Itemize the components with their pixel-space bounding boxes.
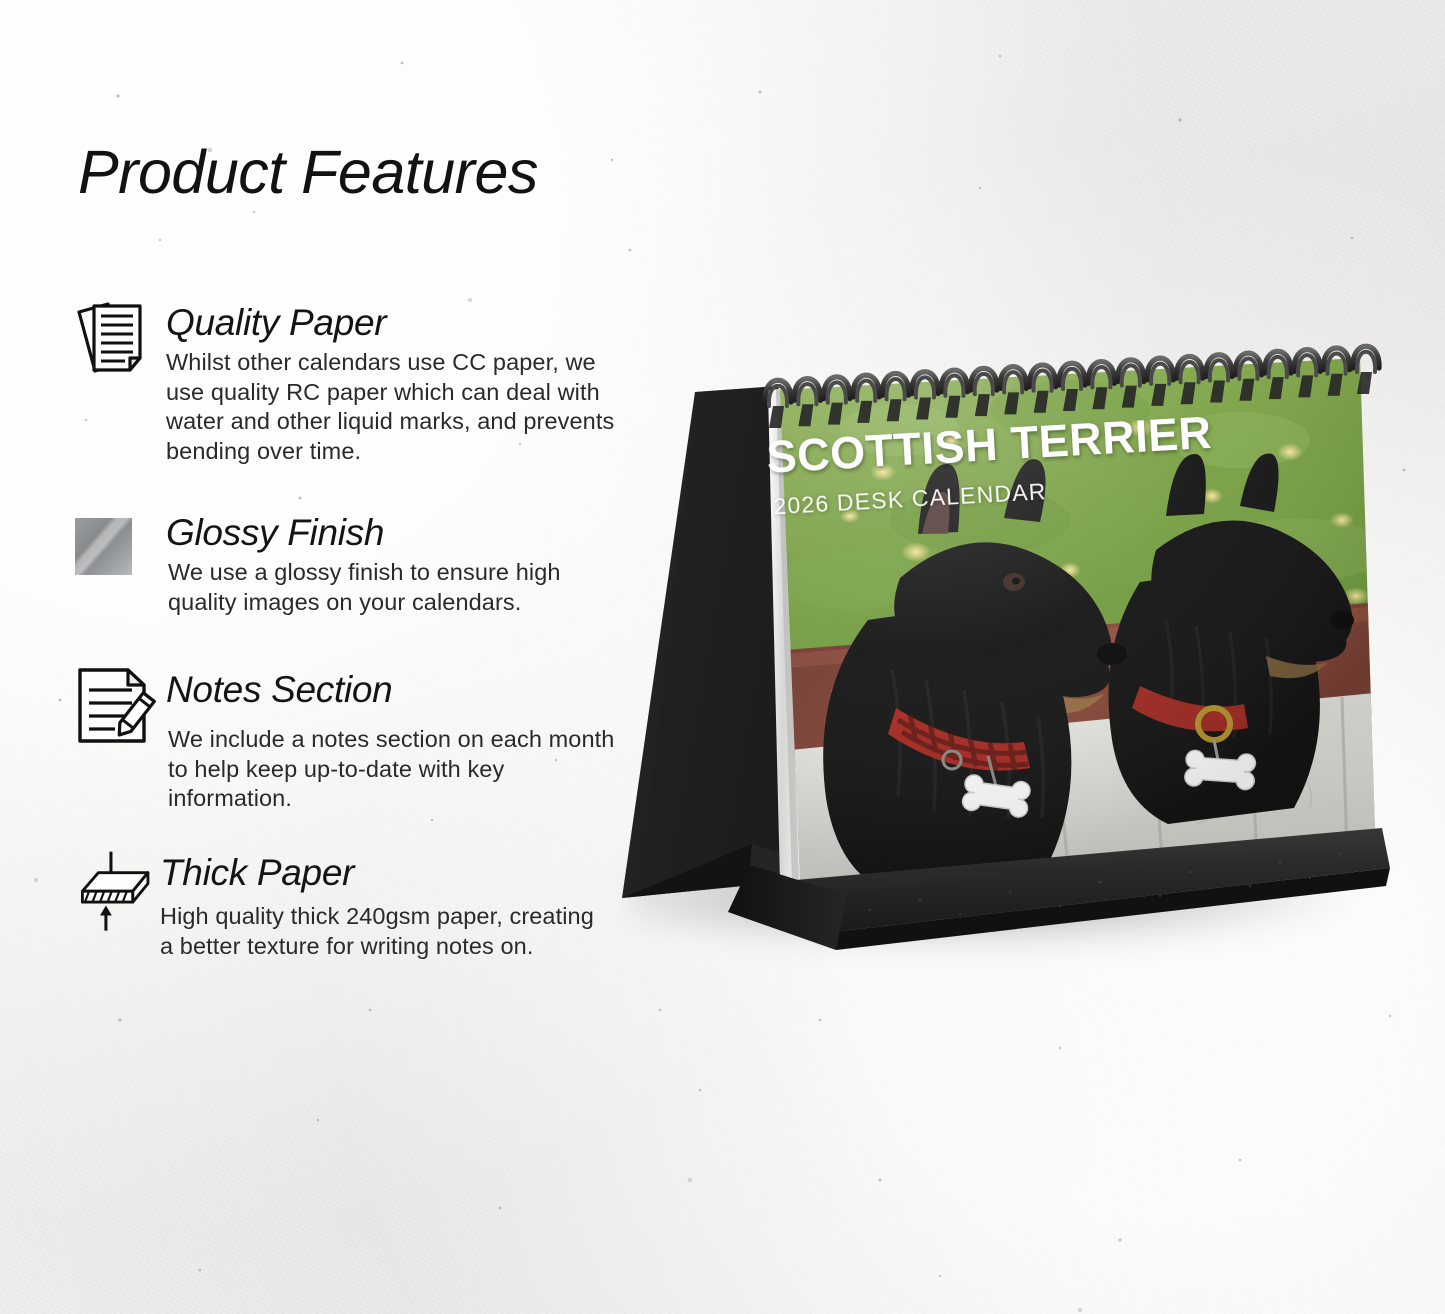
- feature-title: Quality Paper: [166, 302, 386, 344]
- page-title: Product Features: [78, 137, 538, 207]
- glossy-swatch-icon: [70, 510, 162, 594]
- feature-title: Thick Paper: [160, 852, 354, 894]
- feature-description: We include a notes section on each month…: [168, 725, 618, 814]
- desk-calendar-mockup: SCOTTISH TERRIER 2026 DESK CALENDAR: [600, 320, 1400, 980]
- feature-title: Glossy Finish: [166, 512, 384, 554]
- feature-title: Notes Section: [166, 669, 392, 711]
- feature-description: Whilst other calendars use CC paper, we …: [166, 348, 616, 466]
- thick-slab-icon: [70, 850, 162, 934]
- note-pencil-icon: [70, 665, 162, 749]
- features-column: Product Features Quality Paper Whilst ot…: [0, 0, 640, 1314]
- calendar-cover-photo: SCOTTISH TERRIER 2026 DESK CALENDAR: [765, 340, 1390, 901]
- documents-stack-icon: [70, 300, 162, 384]
- feature-description: High quality thick 240gsm paper, creatin…: [160, 902, 610, 961]
- feature-description: We use a glossy finish to ensure high qu…: [168, 558, 618, 617]
